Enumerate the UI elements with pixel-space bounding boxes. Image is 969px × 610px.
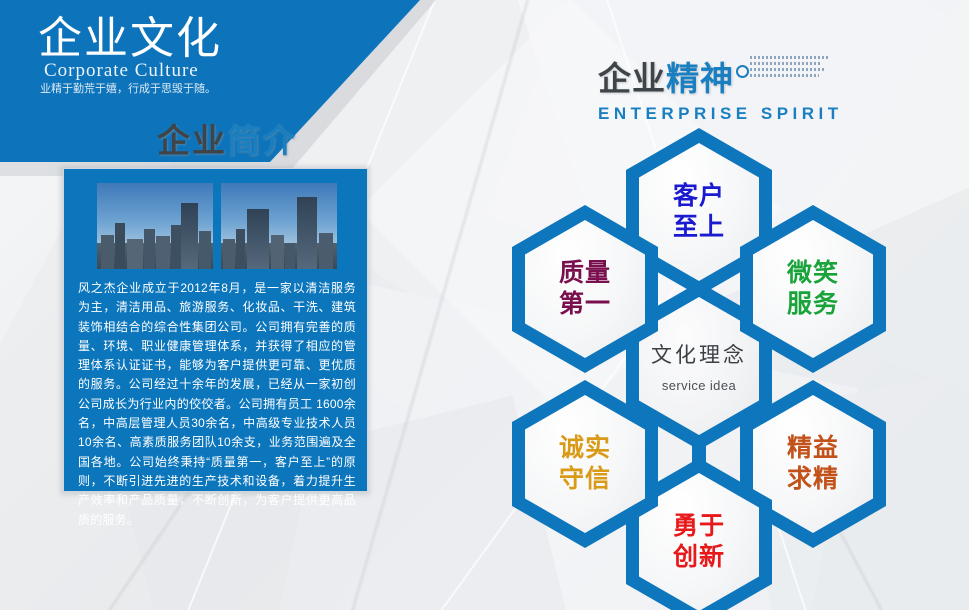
intro-body-text: 风之杰企业成立于2012年8月，是一家以清洁服务为主，清洁用品、旅游服务、化妆品… — [78, 279, 356, 530]
hexagon-center-label-en: service idea — [662, 378, 736, 393]
hexagon-upper-left[interactable]: 质量 第一 — [512, 205, 658, 373]
city-skyline-photo-1 — [97, 183, 213, 269]
intro-heading: 企业简介 — [157, 114, 297, 162]
hexagon-upper-right-line2: 服务 — [787, 289, 839, 320]
hexagon-top-line1: 客户 — [673, 181, 725, 212]
city-skyline-photo-2 — [221, 183, 337, 269]
hexagon-bottom-line1: 勇于 — [673, 511, 725, 542]
photo-row — [97, 183, 337, 269]
dot-icon — [736, 65, 749, 78]
hexagon-diagram: 文化理念 service idea 客户 至上 质量 第一 微笑 — [490, 110, 969, 610]
corporate-culture-poster: 企业文化 Corporate Culture 业精于勤荒于嬉，行成于思毁于随。 … — [0, 0, 969, 610]
spirit-heading-dark: 企业 — [598, 60, 666, 97]
hexagon-center-label-cn: 文化理念 — [651, 340, 747, 371]
hexagon-upper-left-line1: 质量 — [559, 258, 611, 289]
culture-subtitle: 业精于勤荒于嬉，行成于思毁于随。 — [40, 80, 216, 96]
culture-title-en: Corporate Culture — [44, 60, 199, 82]
decorative-microtext — [750, 56, 828, 80]
intro-heading-dark: 企业 — [157, 122, 227, 159]
hexagon-lower-right-line1: 精益 — [787, 433, 839, 464]
hexagon-upper-right[interactable]: 微笑 服务 — [740, 205, 886, 373]
intro-heading-blue: 简介 — [227, 122, 297, 159]
hexagon-lower-right-line2: 求精 — [787, 464, 839, 495]
hexagon-top-line2: 至上 — [673, 212, 725, 243]
hexagon-upper-left-line2: 第一 — [559, 289, 611, 320]
hexagon-lower-left-line2: 守信 — [559, 464, 611, 495]
intro-card: 风之杰企业成立于2012年8月，是一家以清洁服务为主，清洁用品、旅游服务、化妆品… — [63, 168, 368, 492]
hexagon-lower-left-line1: 诚实 — [559, 433, 611, 464]
hexagon-lower-left[interactable]: 诚实 守信 — [512, 380, 658, 548]
hexagon-bottom-line2: 创新 — [673, 542, 725, 573]
spirit-heading-blue: 精神 — [666, 60, 734, 97]
culture-title-cn: 企业文化 — [38, 14, 222, 64]
hexagon-upper-right-line1: 微笑 — [787, 258, 839, 289]
